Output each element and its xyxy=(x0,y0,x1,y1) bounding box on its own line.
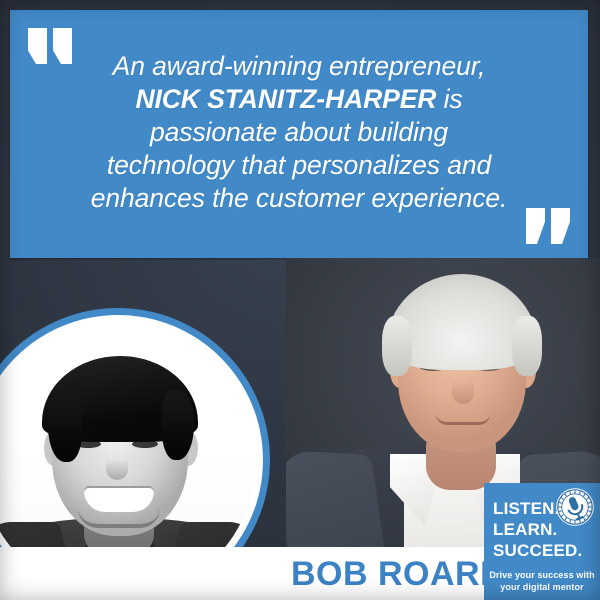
guest-lower-lip xyxy=(78,508,160,528)
quote-line-2-rest: is xyxy=(436,84,462,114)
quote-line-4: technology that personalizes and xyxy=(39,149,559,182)
brand-tagline-line-1: Drive your success with xyxy=(484,569,600,581)
quote-line-2: NICK STANITZ-HARPER is xyxy=(39,83,559,116)
brand-slogan-line-3: SUCCEED. xyxy=(493,540,582,561)
brand-slogan: LISTEN. LEARN. SUCCEED. xyxy=(493,498,582,561)
brand-logo-panel[interactable]: LISTEN. LEARN. SUCCEED. Drive your succe… xyxy=(484,483,600,600)
host-mouth xyxy=(436,414,490,425)
brand-tagline: Drive your success with your digital men… xyxy=(484,569,600,593)
close-quote-mark-icon xyxy=(526,208,572,244)
brand-slogan-line-1: LISTEN. xyxy=(493,498,582,519)
quote-line-5: enhances the customer experience. xyxy=(39,182,559,215)
quote-line-1: An award-winning entrepreneur, xyxy=(39,50,559,83)
host-name: BOB ROARK xyxy=(291,555,505,593)
brand-slogan-line-2: LEARN. xyxy=(493,519,582,540)
quote-guest-name: NICK STANITZ-HARPER xyxy=(135,84,436,114)
host-nose xyxy=(452,370,474,404)
brand-tagline-line-2: your digital mentor xyxy=(484,581,600,593)
podcast-guest-promo-graphic: An award-winning entrepreneur, NICK STAN… xyxy=(0,0,600,600)
quote-line-3: passionate about building xyxy=(39,116,559,149)
quote-card: An award-winning entrepreneur, NICK STAN… xyxy=(10,10,588,258)
quote-text: An award-winning entrepreneur, NICK STAN… xyxy=(39,50,559,215)
guest-nose xyxy=(106,448,128,480)
